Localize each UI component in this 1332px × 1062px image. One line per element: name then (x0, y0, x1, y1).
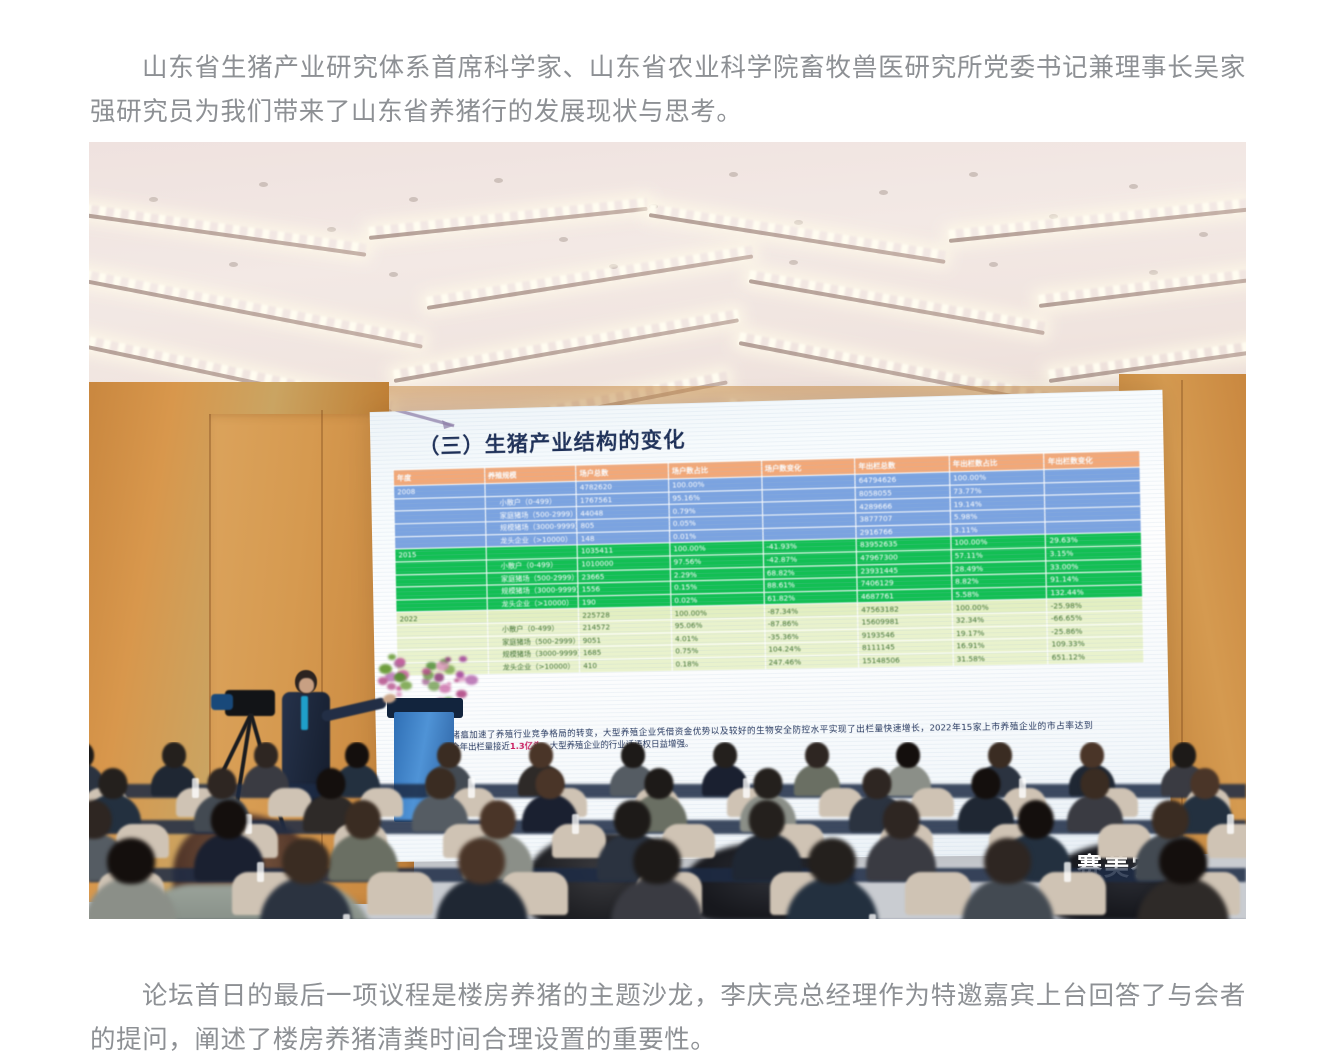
audience-member (194, 800, 264, 878)
paragraph-below-photo: 论坛首日的最后一项议程是楼房养猪的主题沙龙，李庆亮总经理作为特邀嘉宾上台回答了与… (90, 974, 1246, 1062)
flower-petal (445, 657, 451, 662)
audience-member (436, 838, 528, 919)
conference-photo: （三）生猪产业结构的变化 年度 养殖规模 场户总数 场户数占比 场户数变化 年出… (89, 142, 1246, 919)
table-body: 20084782620100.00%64794626100.00%小散户（0-4… (394, 467, 1144, 675)
water-bottle (468, 778, 475, 798)
flower-petal (396, 692, 402, 697)
flower-petal (428, 681, 440, 691)
ceiling-light-rail (749, 279, 1045, 335)
ceiling-light-recess (729, 172, 738, 177)
ceiling-light-recess (494, 178, 503, 183)
audience-member (1067, 768, 1123, 830)
flower-petal (434, 673, 445, 681)
flower-petal (422, 668, 431, 675)
ceiling-light-recess (229, 262, 238, 267)
audience-seating (89, 742, 1246, 919)
cell-farms: 410 (580, 658, 673, 672)
audience-member (151, 742, 197, 794)
cell-output: 15148506 (858, 653, 953, 668)
ceiling-light-recess (389, 272, 398, 277)
flower-petal (459, 656, 466, 662)
water-bottle (1064, 862, 1071, 882)
ceiling-light-recess (794, 220, 803, 225)
flower-petal (456, 671, 464, 678)
note-line-2: 较好的生物安全防控水平实现了出栏量快速增长，2022年15家上市养殖企业的市 (729, 720, 1056, 735)
flower-petal (436, 661, 449, 671)
slide-title: （三）生猪产业结构的变化 (418, 423, 686, 460)
water-bottle (869, 914, 876, 919)
ceiling-light-recess (969, 172, 978, 177)
chair (367, 872, 434, 915)
cell-output-pct: 31.58% (953, 651, 1048, 666)
flower-petal (465, 675, 478, 685)
ceiling-light-rail (427, 254, 754, 310)
water-bottle (343, 914, 350, 919)
water-bottle (1019, 778, 1026, 798)
audience-member (1137, 838, 1229, 919)
audience-member (611, 838, 703, 919)
ceiling-light-recess (789, 260, 798, 265)
audience-member (794, 742, 840, 794)
flower-petal (447, 682, 451, 685)
wechat-article-page: 山东省生猪产业研究体系首席科学家、山东省农业科学院畜牧兽医研究所党委书记兼理事长… (0, 0, 1332, 1051)
cell-output-change: 651.12% (1048, 649, 1144, 664)
audience-member (962, 838, 1054, 919)
flower-petal (387, 683, 395, 690)
ceiling-light-recess (327, 227, 336, 232)
ceiling-light-recess (259, 182, 268, 187)
flower-petal (388, 654, 395, 660)
ceiling-light-recess (1149, 270, 1158, 275)
audience-member (89, 838, 177, 919)
cell-farms-change: 247.46% (765, 655, 859, 670)
flower-petal (400, 681, 412, 691)
ceiling-light-recess (409, 197, 418, 202)
ceiling-light-recess (149, 197, 158, 202)
ceiling-light-recess (879, 190, 888, 195)
audience-member (412, 768, 468, 830)
water-bottle (572, 814, 579, 834)
flower-petal (454, 679, 458, 683)
audience-member (260, 838, 352, 919)
flower-petal (394, 674, 404, 682)
ceiling-light-recess (559, 237, 568, 242)
slide-data-table: 年度 养殖规模 场户总数 场户数占比 场户数变化 年出栏总数 年出栏数占比 年出… (393, 450, 1145, 676)
cell-scale: 龙头企业（>10000） (488, 660, 580, 674)
ceiling-light-rail (394, 318, 739, 383)
paragraph-above-photo: 山东省生猪产业研究体系首席科学家、山东省农业科学院畜牧兽医研究所党委书记兼理事长… (90, 46, 1246, 134)
flower-petal (378, 677, 388, 685)
ceiling-light-recess (1199, 232, 1208, 237)
ceiling-light-recess (1129, 184, 1138, 189)
water-bottle (1227, 814, 1234, 834)
audience-member (786, 838, 878, 919)
note-line-3a: 占率达到 (1056, 720, 1093, 731)
ceiling-light-recess (989, 262, 998, 267)
cell-farms-pct: 0.18% (672, 656, 765, 670)
